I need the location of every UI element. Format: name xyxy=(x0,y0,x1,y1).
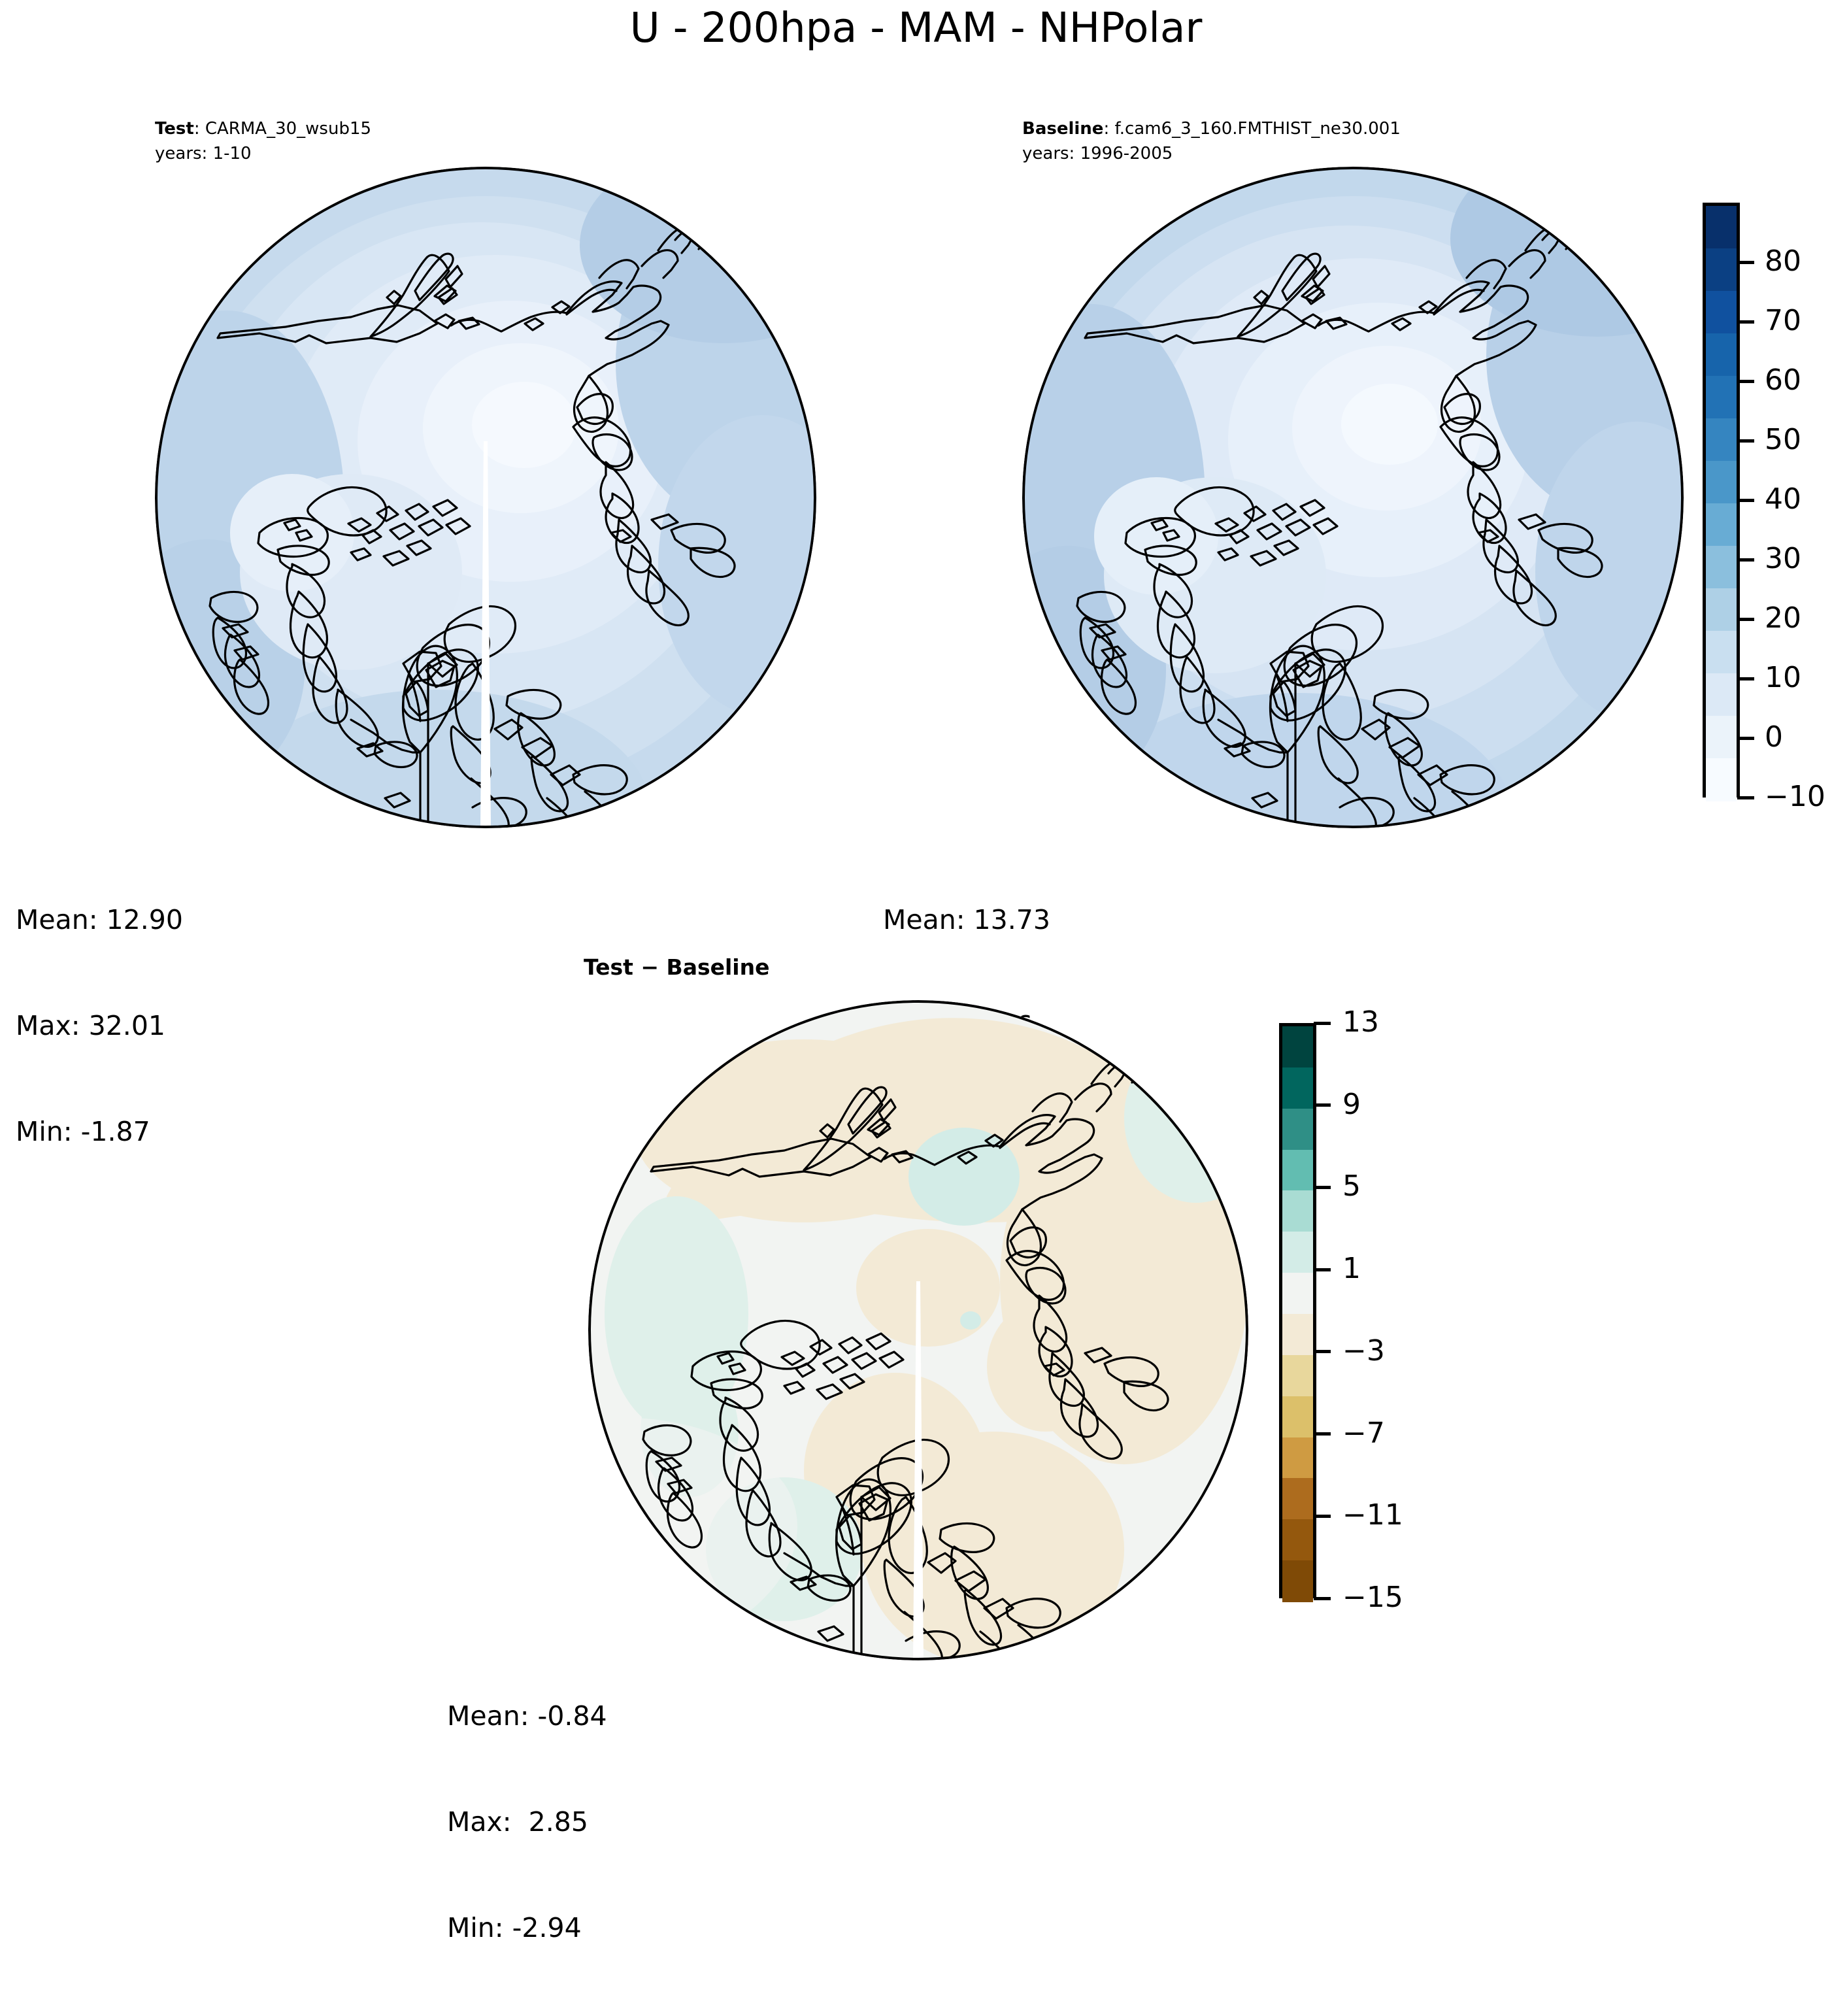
colorbar-tick xyxy=(1737,261,1754,264)
colorbar-band xyxy=(1706,291,1737,334)
main-colorbar: 80706050403020100−10 xyxy=(1703,203,1832,798)
colorbar-band xyxy=(1706,418,1737,462)
test-case-name: CARMA_30_wsub15 xyxy=(205,119,371,139)
colorbar-tick xyxy=(1737,558,1754,562)
test-role-label: Test xyxy=(155,119,194,139)
colorbar-band xyxy=(1282,1437,1313,1479)
colorbar-tick xyxy=(1314,1103,1331,1107)
colorbar-tick-label: −7 xyxy=(1342,1419,1385,1448)
colorbar-band xyxy=(1282,1273,1313,1314)
baseline-map-disc xyxy=(1022,167,1684,828)
difference-mean: Mean: -0.84 xyxy=(447,1698,607,1734)
colorbar-tick xyxy=(1314,1432,1331,1436)
test-separator: : xyxy=(194,119,200,139)
baseline-role-label: Baseline xyxy=(1022,119,1103,139)
test-map-globe xyxy=(155,167,816,828)
difference-map-svg xyxy=(588,1000,1248,1660)
colorbar-tick xyxy=(1737,380,1754,383)
colorbar-tick-label: 10 xyxy=(1765,664,1801,692)
colorbar-tick xyxy=(1737,618,1754,621)
figure-canvas: U - 200hpa - MAM - NHPolar Test: CARMA_3… xyxy=(0,0,1832,1743)
baseline-contour-fills xyxy=(1022,167,1684,828)
colorbar-band xyxy=(1706,758,1737,801)
colorbar-band xyxy=(1706,206,1737,249)
colorbar-band xyxy=(1282,1026,1313,1067)
colorbar-band xyxy=(1282,1355,1313,1396)
baseline-separator: : xyxy=(1103,119,1109,139)
colorbar-band xyxy=(1282,1190,1313,1232)
colorbar-tick-label: 20 xyxy=(1765,604,1801,633)
colorbar-band xyxy=(1706,461,1737,504)
test-max: Max: 32.01 xyxy=(16,1008,183,1043)
colorbar-tick xyxy=(1737,677,1754,680)
difference-min: Min: -2.94 xyxy=(447,1910,607,1945)
colorbar-band xyxy=(1282,1314,1313,1355)
colorbar-tick-label: −10 xyxy=(1765,782,1825,811)
colorbar-tick-label: 70 xyxy=(1765,307,1801,335)
difference-max: Max: 2.85 xyxy=(447,1804,607,1840)
difference-panel-title: Test − Baseline xyxy=(584,954,770,980)
colorbar-tick xyxy=(1737,796,1754,799)
colorbar-band xyxy=(1282,1067,1313,1109)
test-mean: Mean: 12.90 xyxy=(16,902,183,937)
colorbar-band xyxy=(1282,1150,1313,1191)
test-map-disc xyxy=(155,167,816,828)
difference-stats: Mean: -0.84 Max: 2.85 Min: -2.94 xyxy=(447,1628,607,2016)
colorbar-tick-label: 5 xyxy=(1342,1172,1361,1201)
colorbar-band xyxy=(1706,503,1737,546)
test-years: years: 1-10 xyxy=(155,141,371,166)
main-colorbar-bar xyxy=(1703,203,1740,798)
colorbar-tick xyxy=(1314,1268,1331,1271)
colorbar-tick-label: 0 xyxy=(1765,723,1783,752)
baseline-case-name: f.cam6_3_160.FMTHIST_ne30.001 xyxy=(1114,119,1400,139)
colorbar-tick-label: 60 xyxy=(1765,366,1801,395)
colorbar-tick-label: −11 xyxy=(1342,1501,1403,1530)
colorbar-tick xyxy=(1737,737,1754,740)
colorbar-band xyxy=(1706,248,1737,292)
baseline-panel-label: Baseline: f.cam6_3_160.FMTHIST_ne30.001 … xyxy=(1022,116,1401,166)
colorbar-tick xyxy=(1737,439,1754,443)
baseline-mean: Mean: 13.73 xyxy=(883,902,1050,937)
colorbar-tick-label: 30 xyxy=(1765,545,1801,573)
colorbar-band xyxy=(1706,716,1737,759)
colorbar-band xyxy=(1282,1519,1313,1560)
baseline-map-globe xyxy=(1022,167,1684,828)
figure-title: U - 200hpa - MAM - NHPolar xyxy=(0,4,1832,52)
colorbar-band xyxy=(1706,333,1737,377)
colorbar-band xyxy=(1282,1478,1313,1519)
colorbar-band xyxy=(1706,631,1737,674)
colorbar-tick xyxy=(1314,1515,1331,1518)
colorbar-tick xyxy=(1314,1597,1331,1600)
colorbar-tick xyxy=(1737,499,1754,502)
test-min: Min: -1.87 xyxy=(16,1114,183,1149)
difference-map-disc xyxy=(588,1000,1248,1660)
colorbar-tick-label: 1 xyxy=(1342,1254,1361,1283)
colorbar-tick-label: 50 xyxy=(1765,426,1801,454)
colorbar-band xyxy=(1706,673,1737,716)
colorbar-tick-label: −3 xyxy=(1342,1337,1385,1366)
colorbar-tick xyxy=(1314,1022,1331,1025)
difference-map-globe xyxy=(588,1000,1248,1660)
colorbar-band xyxy=(1282,1396,1313,1437)
colorbar-tick xyxy=(1314,1186,1331,1189)
colorbar-tick-label: 13 xyxy=(1342,1008,1379,1037)
difference-colorbar-bar xyxy=(1279,1023,1316,1598)
colorbar-tick-label: 9 xyxy=(1342,1090,1361,1119)
test-map-svg xyxy=(155,167,816,828)
colorbar-band xyxy=(1282,1560,1313,1602)
colorbar-tick xyxy=(1737,320,1754,324)
difference-colorbar: 13951−3−7−11−15 xyxy=(1279,1023,1423,1598)
colorbar-tick-label: 40 xyxy=(1765,485,1801,514)
colorbar-tick-label: 80 xyxy=(1765,247,1801,276)
test-panel-label: Test: CARMA_30_wsub15 years: 1-10 xyxy=(155,116,371,166)
colorbar-tick-label: −15 xyxy=(1342,1583,1403,1612)
baseline-map-svg xyxy=(1022,167,1684,828)
colorbar-tick xyxy=(1314,1350,1331,1353)
test-stats: Mean: 12.90 Max: 32.01 Min: -1.87 xyxy=(16,832,183,1220)
baseline-years: years: 1996-2005 xyxy=(1022,141,1401,166)
colorbar-band xyxy=(1282,1232,1313,1273)
colorbar-band xyxy=(1706,546,1737,589)
colorbar-band xyxy=(1282,1109,1313,1150)
colorbar-band xyxy=(1706,376,1737,419)
colorbar-band xyxy=(1706,588,1737,631)
